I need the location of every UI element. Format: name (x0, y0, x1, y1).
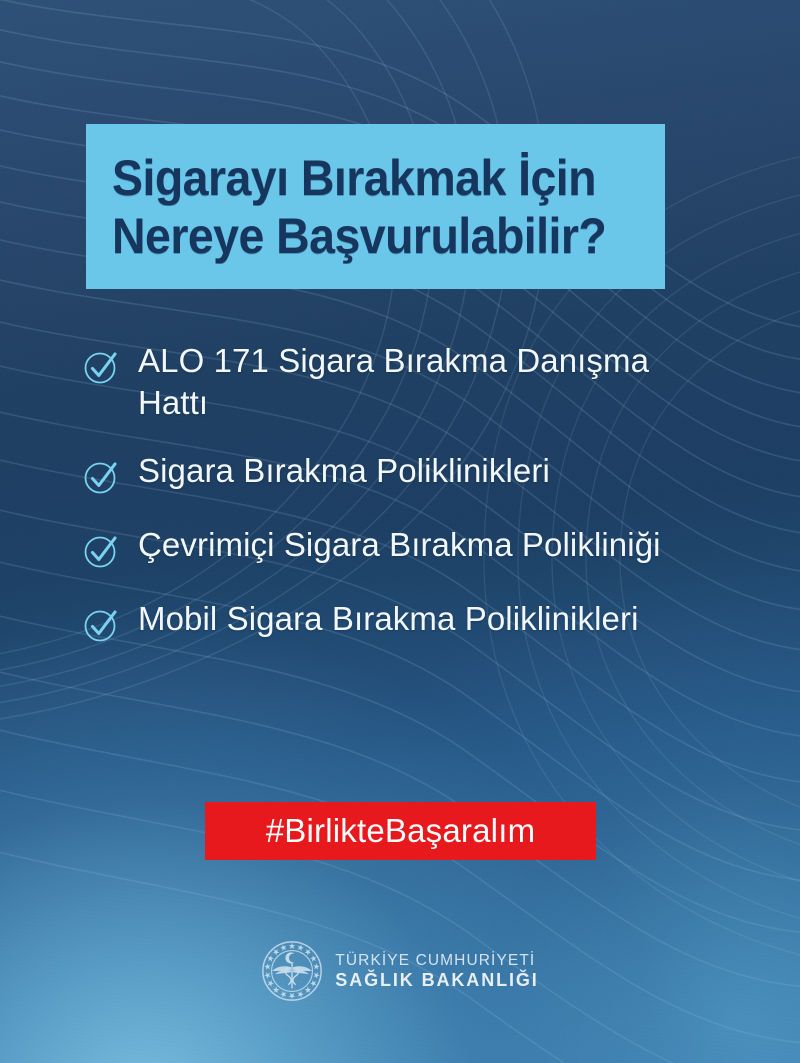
footer-logo: TÜRKİYE CUMHURİYETİ SAĞLIK BAKANLIĞI (0, 940, 800, 1002)
list-item: ALO 171 Sigara Bırakma Danışma Hattı (80, 340, 720, 424)
list-item-label: Çevrimiçi Sigara Bırakma Polikliniği (138, 524, 661, 566)
list-item-label: Mobil Sigara Bırakma Poliklinikleri (138, 598, 639, 640)
list-item-label: Sigara Bırakma Poliklinikleri (138, 450, 550, 492)
list-item: Sigara Bırakma Poliklinikleri (80, 450, 720, 498)
list-item-label: ALO 171 Sigara Bırakma Danışma Hattı (138, 340, 720, 424)
list-item: Çevrimiçi Sigara Bırakma Polikliniği (80, 524, 720, 572)
title-banner: Sigarayı Bırakmak İçin Nereye Başvurulab… (86, 124, 665, 289)
page-title-line-2: Nereye Başvurulabilir? (112, 207, 626, 265)
poster-canvas: Sigarayı Bırakmak İçin Nereye Başvurulab… (0, 0, 800, 1063)
health-ministry-caduceus-emblem-icon (261, 940, 323, 1002)
hashtag-label: #BirlikteBaşaralım (266, 812, 536, 850)
check-circle-icon (80, 604, 122, 646)
check-circle-icon (80, 456, 122, 498)
checklist: ALO 171 Sigara Bırakma Danışma Hattı Sig… (80, 340, 720, 672)
hashtag-banner: #BirlikteBaşaralım (205, 802, 596, 860)
footer-ministry-label: SAĞLIK BAKANLIĞI (335, 970, 538, 990)
list-item: Mobil Sigara Bırakma Poliklinikleri (80, 598, 720, 646)
footer-wordmark: TÜRKİYE CUMHURİYETİ SAĞLIK BAKANLIĞI (335, 952, 538, 990)
check-circle-icon (80, 346, 122, 388)
check-circle-icon (80, 530, 122, 572)
page-title-line-1: Sigarayı Bırakmak İçin (112, 149, 626, 207)
footer-republic-label: TÜRKİYE CUMHURİYETİ (335, 952, 538, 969)
